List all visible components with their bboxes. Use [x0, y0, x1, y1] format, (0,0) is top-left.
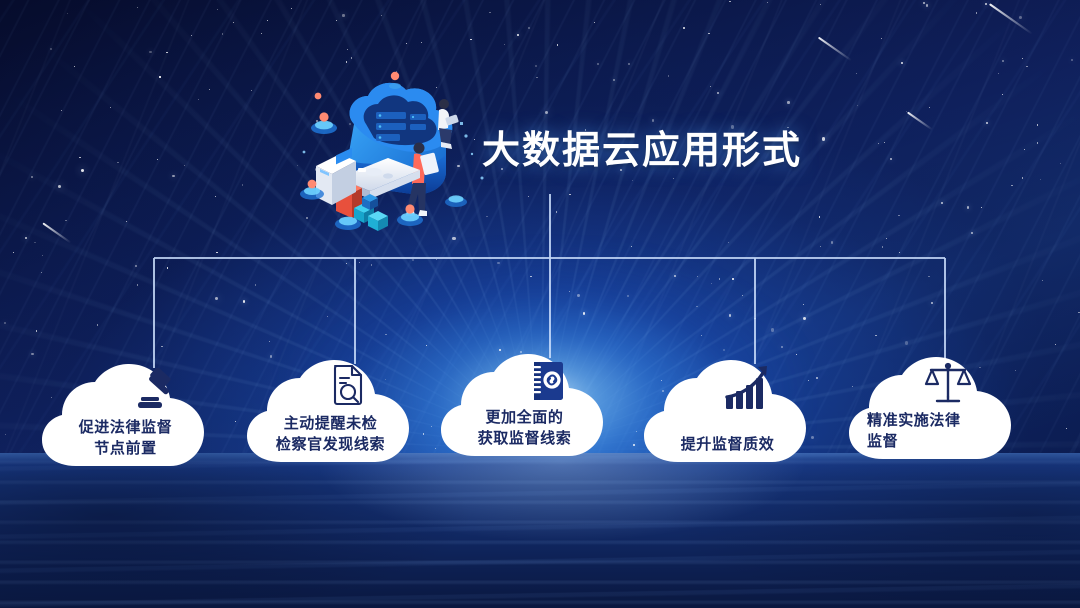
- cloud-card-2-line: 更加全面的: [451, 407, 598, 428]
- document-search-icon: [327, 362, 369, 406]
- notebook-icon: [525, 358, 569, 404]
- cloud-card-4[interactable]: 精准实施法律监督: [845, 355, 1020, 465]
- cloud-card-3-label: 提升监督质效: [640, 434, 815, 455]
- cloud-card-3-line: 提升监督质效: [654, 434, 801, 455]
- cloud-card-1-label: 主动提醒未检检察官发现线索: [243, 413, 418, 455]
- hero-illustration: [296, 62, 492, 234]
- growth-chart-icon: [722, 362, 778, 412]
- cloud-card-1-line: 检察官发现线索: [257, 434, 404, 455]
- cloud-card-0[interactable]: 促进法律监督节点前置: [38, 362, 213, 472]
- big-data-cloud-isometric-illustration: [296, 62, 492, 234]
- cloud-card-0-line: 促进法律监督: [52, 417, 199, 438]
- cloud-card-0-line: 节点前置: [52, 438, 199, 459]
- gavel-icon: [133, 368, 179, 414]
- person-sitting-icon: [438, 99, 459, 149]
- cloud-card-1-line: 主动提醒未检: [257, 413, 404, 434]
- cloud-card-2-label: 更加全面的获取监督线索: [437, 407, 612, 449]
- cloud-card-2[interactable]: 更加全面的获取监督线索: [437, 352, 612, 462]
- cloud-card-1[interactable]: 主动提醒未检检察官发现线索: [243, 358, 418, 468]
- cloud-card-4-line: 精准实施法律: [867, 410, 1006, 431]
- cloud-card-4-line: 监督: [867, 431, 1006, 452]
- slide-canvas: 大数据云应用形式 促进法律监督节点前置: [0, 0, 1080, 608]
- cloud-card-0-label: 促进法律监督节点前置: [38, 417, 213, 459]
- cloud-card-4-label: 精准实施法律监督: [845, 410, 1020, 452]
- cloud-card-3[interactable]: 提升监督质效: [640, 358, 815, 468]
- ocean-surface: [0, 453, 1080, 608]
- scales-of-justice-icon: [923, 359, 973, 407]
- cloud-card-2-line: 获取监督线索: [451, 428, 598, 449]
- page-title: 大数据云应用形式: [482, 128, 802, 174]
